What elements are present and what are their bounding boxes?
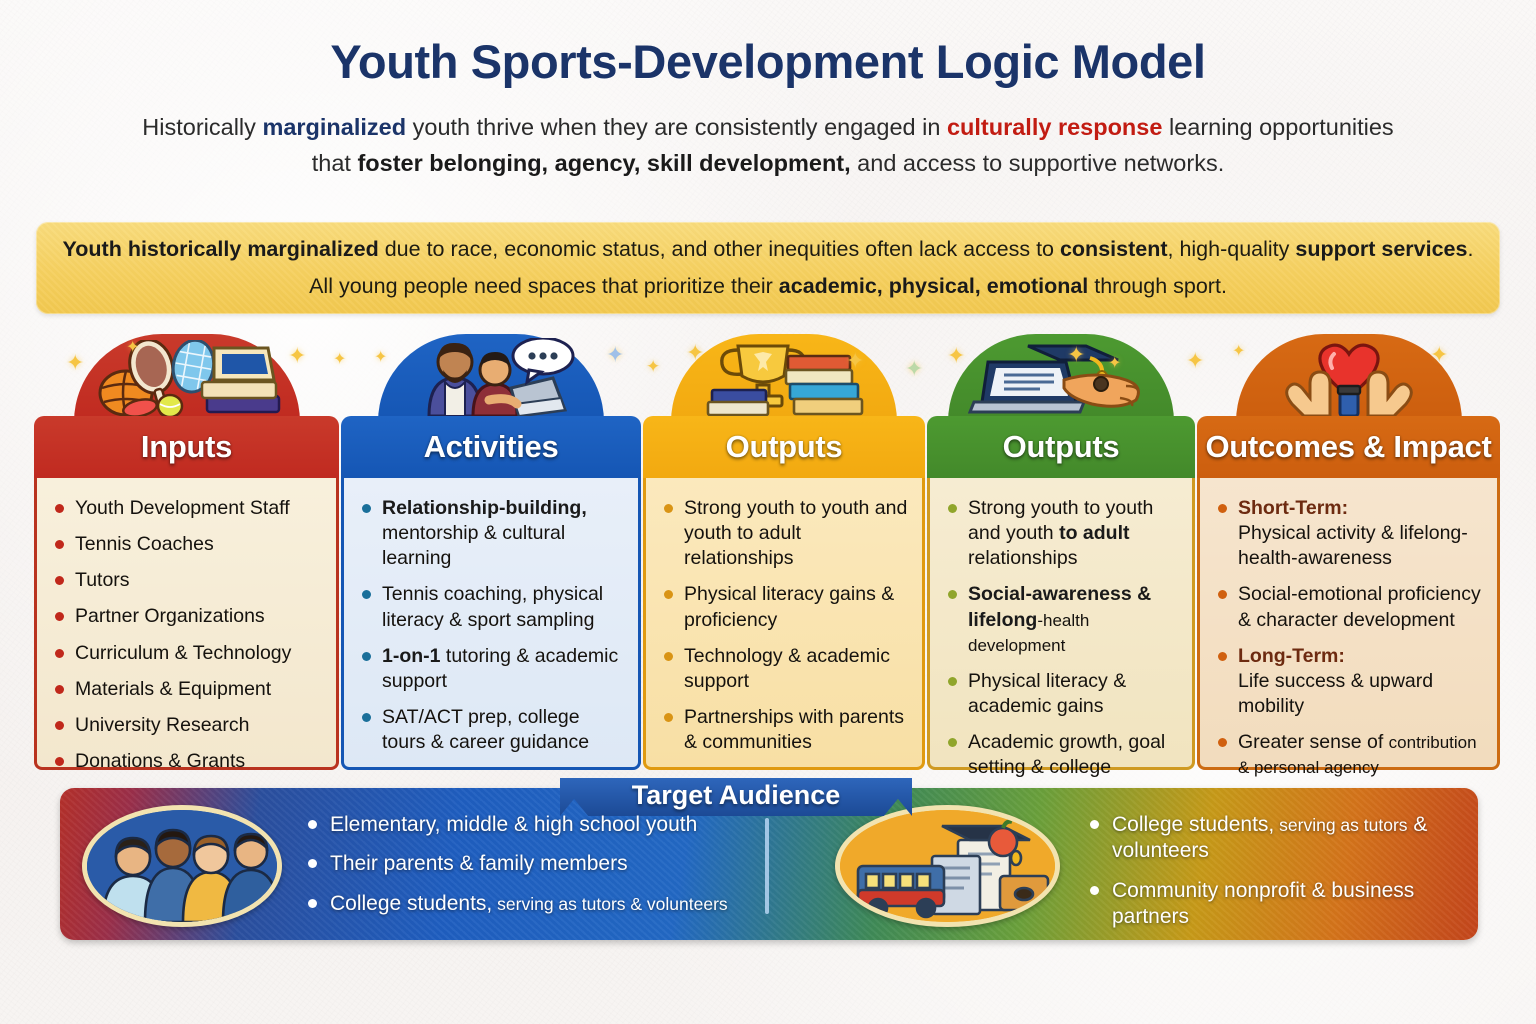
column-header-inputs: Inputs bbox=[34, 416, 339, 478]
list-item: Social-emotional proficiency & character… bbox=[1216, 582, 1483, 632]
list-item: College students, serving as tutors & vo… bbox=[308, 891, 758, 917]
sparkle-icon: ✦ bbox=[846, 350, 864, 372]
bullet-dot bbox=[1218, 504, 1227, 513]
bullet-dot bbox=[362, 652, 371, 661]
school-bus-books-graduation-icon bbox=[835, 805, 1060, 927]
list-item: Strong youth to youth and youth to adult… bbox=[946, 496, 1178, 571]
column-header-outputs-2: Outputs bbox=[927, 416, 1195, 478]
bullet-dot bbox=[308, 899, 317, 908]
sparkle-icon: ✦ bbox=[905, 358, 923, 380]
sparkle-icon: ✦ bbox=[126, 340, 139, 356]
list-item: College students, serving as tutors & vo… bbox=[1090, 812, 1490, 865]
list-item: Long-Term:Life success & upward mobility bbox=[1216, 644, 1483, 719]
list-item: Elementary, middle & high school youth bbox=[308, 812, 758, 838]
list-item: Tennis Coaches bbox=[53, 532, 322, 557]
list-item: Short-Term:Physical activity & lifelong-… bbox=[1216, 496, 1483, 571]
bullet-dot bbox=[55, 576, 64, 585]
sparkle-icon: ✦ bbox=[1232, 344, 1245, 360]
bullet-dot bbox=[55, 649, 64, 658]
outputs-1-list: Strong youth to youth and youth to adult… bbox=[662, 496, 908, 755]
bullet-dot bbox=[948, 677, 957, 686]
list-item: Academic growth, goal setting & college bbox=[946, 730, 1178, 780]
bullet-dot bbox=[664, 652, 673, 661]
list-item: Tutors bbox=[53, 568, 322, 593]
bullet-dot bbox=[55, 612, 64, 621]
logic-model-columns: Inputs Youth Development StaffTennis Coa… bbox=[0, 330, 1536, 770]
sparkle-icon: ✦ bbox=[686, 342, 704, 364]
list-item: Curriculum & Technology bbox=[53, 641, 322, 666]
laptop-graduation-cap-icon bbox=[968, 342, 1154, 416]
bullet-dot bbox=[948, 504, 957, 513]
column-title: Outputs bbox=[726, 429, 843, 465]
sparkle-icon: ✦ bbox=[646, 358, 660, 375]
sparkle-icon: ✦ bbox=[606, 344, 624, 366]
list-item: Social-awareness & lifelong-health devel… bbox=[946, 582, 1178, 657]
list-item: Strong youth to youth and youth to adult… bbox=[662, 496, 908, 571]
bullet-dot bbox=[362, 590, 371, 599]
bullet-dot bbox=[948, 738, 957, 747]
bullet-dot bbox=[362, 504, 371, 513]
bullet-dot bbox=[664, 504, 673, 513]
column-activities[interactable]: Activities Relationship-building, mentor… bbox=[341, 330, 641, 770]
page-title: Youth Sports-Development Logic Model bbox=[0, 34, 1536, 89]
column-title: Outcomes & Impact bbox=[1205, 429, 1491, 465]
bullet-dot bbox=[362, 713, 371, 722]
sports-equipment-books-icon bbox=[92, 340, 282, 416]
bullet-dot bbox=[55, 685, 64, 694]
column-arc-outputs-2 bbox=[927, 330, 1195, 422]
bullet-dot bbox=[55, 540, 64, 549]
list-item: Partner Organizations bbox=[53, 604, 322, 629]
column-arc-activities bbox=[341, 330, 641, 422]
sparkle-icon: ✦ bbox=[288, 345, 306, 367]
bullet-dot bbox=[1090, 820, 1099, 829]
column-title: Inputs bbox=[141, 429, 232, 465]
column-body-inputs: Youth Development StaffTennis CoachesTut… bbox=[34, 478, 339, 770]
bullet-dot bbox=[1218, 738, 1227, 747]
sparkle-icon: ✦ bbox=[1067, 344, 1085, 366]
column-inputs[interactable]: Inputs Youth Development StaffTennis Coa… bbox=[34, 330, 339, 770]
activities-list: Relationship-building, mentorship & cult… bbox=[360, 496, 624, 755]
column-body-activities: Relationship-building, mentorship & cult… bbox=[341, 478, 641, 770]
header: Youth Sports-Development Logic Model His… bbox=[0, 34, 1536, 182]
column-title: Outputs bbox=[1003, 429, 1120, 465]
list-item: University Research bbox=[53, 713, 322, 738]
sparkle-icon: ✦ bbox=[1430, 344, 1448, 366]
target-audience-right-list: College students, serving as tutors & vo… bbox=[1090, 812, 1490, 943]
column-header-outputs-1: Outputs bbox=[643, 416, 925, 478]
column-body-outputs-1: Strong youth to youth and youth to adult… bbox=[643, 478, 925, 770]
mentor-and-student-laptop-icon bbox=[393, 338, 589, 416]
bullet-dot bbox=[664, 713, 673, 722]
page-subtitle: Historically marginalized youth thrive w… bbox=[123, 109, 1413, 182]
bullet-dot bbox=[1218, 590, 1227, 599]
sparkle-icon: ✦ bbox=[947, 345, 965, 367]
sparkle-icon: ✦ bbox=[66, 352, 84, 374]
bullet-dot bbox=[1218, 652, 1227, 661]
list-item: 1-on-1 tutoring & academic support bbox=[360, 644, 624, 694]
outputs-2-list: Strong youth to youth and youth to adult… bbox=[946, 496, 1178, 780]
list-item: Their parents & family members bbox=[308, 851, 758, 877]
context-banner: Youth historically marginalized due to r… bbox=[36, 222, 1500, 314]
column-title: Activities bbox=[424, 429, 559, 465]
list-item: Tennis coaching, physical literacy & spo… bbox=[360, 582, 624, 632]
bullet-dot bbox=[664, 590, 673, 599]
group-of-students-icon bbox=[82, 805, 282, 927]
list-item: Community nonprofit & business partners bbox=[1090, 878, 1490, 931]
column-outputs-2[interactable]: Outputs Strong youth to youth and youth … bbox=[927, 330, 1195, 770]
target-audience-divider bbox=[765, 818, 769, 914]
bullet-dot bbox=[55, 757, 64, 766]
sparkle-icon: ✦ bbox=[333, 352, 346, 368]
list-item: SAT/ACT prep, college tours & career gui… bbox=[360, 705, 624, 755]
target-audience-left-list: Elementary, middle & high school youthTh… bbox=[308, 812, 758, 930]
list-item: Partnerships with parents & communities bbox=[662, 705, 908, 755]
bullet-dot bbox=[55, 504, 64, 513]
target-audience-title: Target Audience bbox=[632, 778, 841, 812]
column-body-outputs-2: Strong youth to youth and youth to adult… bbox=[927, 478, 1195, 770]
sparkle-icon: ✦ bbox=[1186, 350, 1204, 372]
list-item: Relationship-building, mentorship & cult… bbox=[360, 496, 624, 571]
bullet-dot bbox=[948, 590, 957, 599]
inputs-list: Youth Development StaffTennis CoachesTut… bbox=[53, 496, 322, 774]
sparkle-icon: ✦ bbox=[1108, 356, 1121, 372]
column-outcomes-impact[interactable]: Outcomes & Impact Short-Term:Physical ac… bbox=[1197, 330, 1500, 770]
hands-holding-heart-icon bbox=[1260, 342, 1438, 416]
column-header-activities: Activities bbox=[341, 416, 641, 478]
column-body-outcomes: Short-Term:Physical activity & lifelong-… bbox=[1197, 478, 1500, 770]
list-item: Greater sense of contribution & personal… bbox=[1216, 730, 1483, 780]
column-outputs-1[interactable]: Outputs Strong youth to youth and youth … bbox=[643, 330, 925, 770]
bullet-dot bbox=[308, 820, 317, 829]
bullet-dot bbox=[1090, 886, 1099, 895]
context-banner-text: Youth historically marginalized due to r… bbox=[36, 231, 1500, 305]
bullet-dot bbox=[308, 859, 317, 868]
sparkle-icon: ✦ bbox=[374, 350, 387, 366]
list-item: Youth Development Staff bbox=[53, 496, 322, 521]
column-header-outcomes: Outcomes & Impact bbox=[1197, 416, 1500, 478]
list-item: Physical literacy & academic gains bbox=[946, 669, 1178, 719]
outcomes-list: Short-Term:Physical activity & lifelong-… bbox=[1216, 496, 1483, 780]
list-item: Donations & Grants bbox=[53, 749, 322, 774]
list-item: Physical literacy gains & proficiency bbox=[662, 582, 908, 632]
target-audience-ribbon: Target Audience bbox=[560, 778, 912, 816]
list-item: Technology & academic support bbox=[662, 644, 908, 694]
list-item: Materials & Equipment bbox=[53, 677, 322, 702]
bullet-dot bbox=[55, 721, 64, 730]
